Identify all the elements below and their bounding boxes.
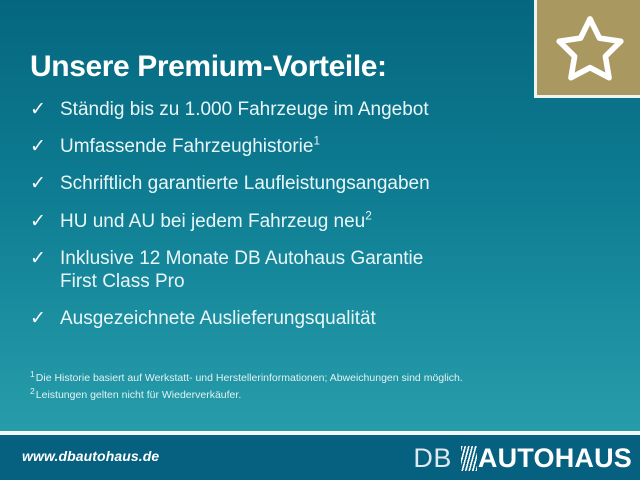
check-icon: ✓ <box>30 210 60 233</box>
footnote: 1Die Historie basiert auf Werkstatt- und… <box>30 370 590 387</box>
list-item-label: Ausgezeichnete Auslieferungsqualität <box>60 307 510 330</box>
list-item: ✓ Inklusive 12 Monate DB Autohaus Garant… <box>30 247 510 293</box>
star-icon <box>553 12 625 84</box>
db-autohaus-logo: DB AUTOHAUS <box>413 443 632 474</box>
logo-db-text: DB <box>413 443 452 474</box>
footnote-marker: 1 <box>313 135 320 148</box>
promo-banner: Unsere Premium-Vorteile: ✓ Ständig bis z… <box>0 0 640 480</box>
list-item: ✓ HU und AU bei jedem Fahrzeug neu2 <box>30 210 510 233</box>
list-item-label: Umfassende Fahrzeughistorie1 <box>60 135 510 158</box>
list-item: ✓ Schriftlich garantierte Laufleistungsa… <box>30 172 510 195</box>
logo-autohaus-text: AUTOHAUS <box>478 443 632 474</box>
website-link[interactable]: www.dbautohaus.de <box>22 448 159 464</box>
logo-stripes-icon <box>461 446 477 471</box>
premium-star-badge <box>534 0 640 98</box>
list-item-label: HU und AU bei jedem Fahrzeug neu2 <box>60 210 510 233</box>
list-item: ✓ Umfassende Fahrzeughistorie1 <box>30 135 510 158</box>
footnote-text: Leistungen gelten nicht für Wiederverkäu… <box>36 389 241 401</box>
list-item: ✓ Ausgezeichnete Auslieferungsqualität <box>30 307 510 330</box>
list-item: ✓ Ständig bis zu 1.000 Fahrzeuge im Ange… <box>30 98 510 121</box>
check-icon: ✓ <box>30 247 60 270</box>
footnotes-block: 1Die Historie basiert auf Werkstatt- und… <box>30 370 590 404</box>
footer-bar: www.dbautohaus.de DB AUTOHAUS <box>0 435 640 480</box>
check-icon: ✓ <box>30 172 60 195</box>
list-item-label: Schriftlich garantierte Laufleistungsang… <box>60 172 510 195</box>
page-title: Unsere Premium-Vorteile: <box>30 50 387 84</box>
benefits-list: ✓ Ständig bis zu 1.000 Fahrzeuge im Ange… <box>30 98 510 344</box>
footnote: 2Leistungen gelten nicht für Wiederverkä… <box>30 387 590 404</box>
check-icon: ✓ <box>30 307 60 330</box>
check-icon: ✓ <box>30 98 60 121</box>
check-icon: ✓ <box>30 135 60 158</box>
footnote-text: Die Historie basiert auf Werkstatt- und … <box>36 372 463 384</box>
list-item-label: Inklusive 12 Monate DB Autohaus Garantie… <box>60 247 510 293</box>
list-item-label: Ständig bis zu 1.000 Fahrzeuge im Angebo… <box>60 98 510 121</box>
footnote-marker: 2 <box>365 209 372 222</box>
